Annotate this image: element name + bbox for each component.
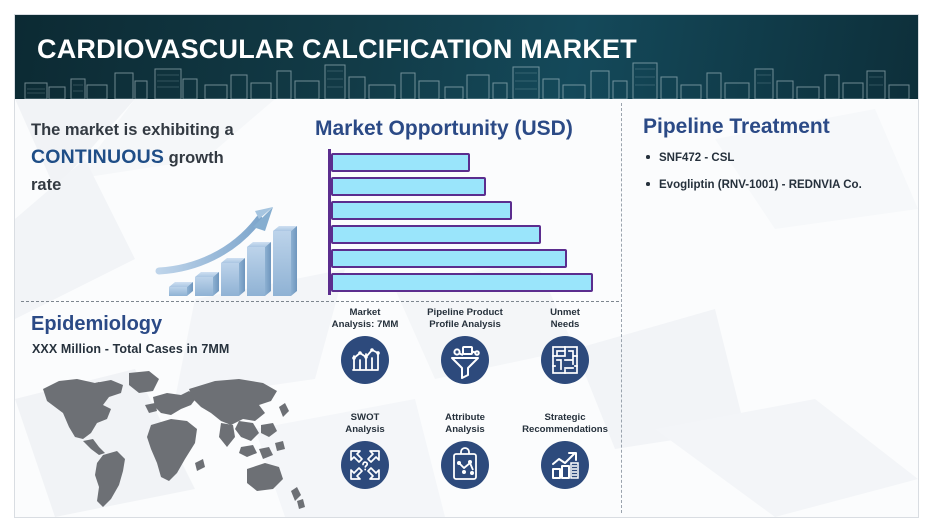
bullet-icon	[646, 155, 650, 159]
swot-arrows-question-icon	[341, 441, 389, 489]
chart-bar	[331, 153, 470, 172]
horizontal-divider	[21, 301, 619, 302]
list-item-label: Evogliptin (RNV-1001) - REDNVIA Co.	[659, 179, 862, 191]
statement-highlight: CONTINUOUS	[31, 146, 164, 168]
vertical-divider	[621, 103, 622, 513]
world-map-icon	[25, 367, 321, 512]
analysis-item-pipeline-product-profile[interactable]: Pipeline Product Profile Analysis	[415, 307, 515, 384]
clipboard-strategy-icon	[441, 441, 489, 489]
analysis-item-label: Unmet Needs	[515, 307, 615, 332]
analysis-item-label: Market Analysis: 7MM	[315, 307, 415, 332]
analysis-item-label: Attribute Analysis	[415, 412, 515, 437]
analysis-item-label: Pipeline Product Profile Analysis	[415, 307, 515, 332]
epidemiology-title: Epidemiology	[31, 313, 162, 336]
epidemiology-subtitle: XXX Million - Total Cases in 7MM	[32, 342, 229, 356]
statement-line-3: rate	[31, 176, 61, 194]
bullet-icon	[646, 182, 650, 186]
page-title: CARDIOVASCULAR CALCIFICATION MARKET	[37, 34, 637, 65]
list-item: Evogliptin (RNV-1001) - REDNVIA Co.	[645, 178, 907, 192]
pipeline-treatment-list: SNF472 - CSL Evogliptin (RNV-1001) - RED…	[645, 151, 907, 205]
infographic-card: CARDIOVASCULAR CALCIFICATION MARKET The …	[14, 14, 919, 518]
chart-bar	[331, 273, 593, 292]
3d-growth-bars-arrow-icon	[155, 199, 305, 299]
header-banner: CARDIOVASCULAR CALCIFICATION MARKET	[15, 15, 918, 99]
analysis-item-label: Strategic Recommendations	[515, 412, 615, 437]
list-item: SNF472 - CSL	[645, 151, 907, 165]
statement-line-1: The market is exhibiting a	[31, 121, 234, 139]
analysis-item-label: SWOT Analysis	[315, 412, 415, 437]
infographic-page: CARDIOVASCULAR CALCIFICATION MARKET The …	[0, 0, 933, 532]
chart-bar	[331, 201, 512, 220]
funnel-icon	[441, 336, 489, 384]
chart-bar	[331, 249, 567, 268]
growth-chart-arrow-icon	[541, 441, 589, 489]
analysis-item-swot-analysis[interactable]: SWOT Analysis	[315, 412, 415, 489]
market-opportunity-title: Market Opportunity (USD)	[315, 117, 573, 141]
maze-icon	[541, 336, 589, 384]
pipeline-treatment-title: Pipeline Treatment	[643, 115, 830, 139]
list-item-label: SNF472 - CSL	[659, 152, 734, 164]
analysis-item-strategic-recommendations[interactable]: Strategic Recommendations	[515, 412, 615, 489]
statement-line-2: growth	[164, 149, 224, 167]
analysis-item-market-analysis[interactable]: Market Analysis: 7MM	[315, 307, 415, 384]
market-opportunity-chart	[315, 149, 607, 295]
analysis-icon-grid: Market Analysis: 7MM	[315, 307, 615, 512]
growth-statement: The market is exhibiting a CONTINUOUS gr…	[31, 117, 293, 199]
analysis-item-unmet-needs[interactable]: Unmet Needs	[515, 307, 615, 384]
chart-bar	[331, 225, 541, 244]
city-skyline-icon	[15, 59, 918, 99]
body-canvas: The market is exhibiting a CONTINUOUS gr…	[15, 99, 918, 517]
analysis-item-attribute-analysis[interactable]: Attribute Analysis	[415, 412, 515, 489]
chart-bar	[331, 177, 486, 196]
bar-chart-line-icon	[341, 336, 389, 384]
